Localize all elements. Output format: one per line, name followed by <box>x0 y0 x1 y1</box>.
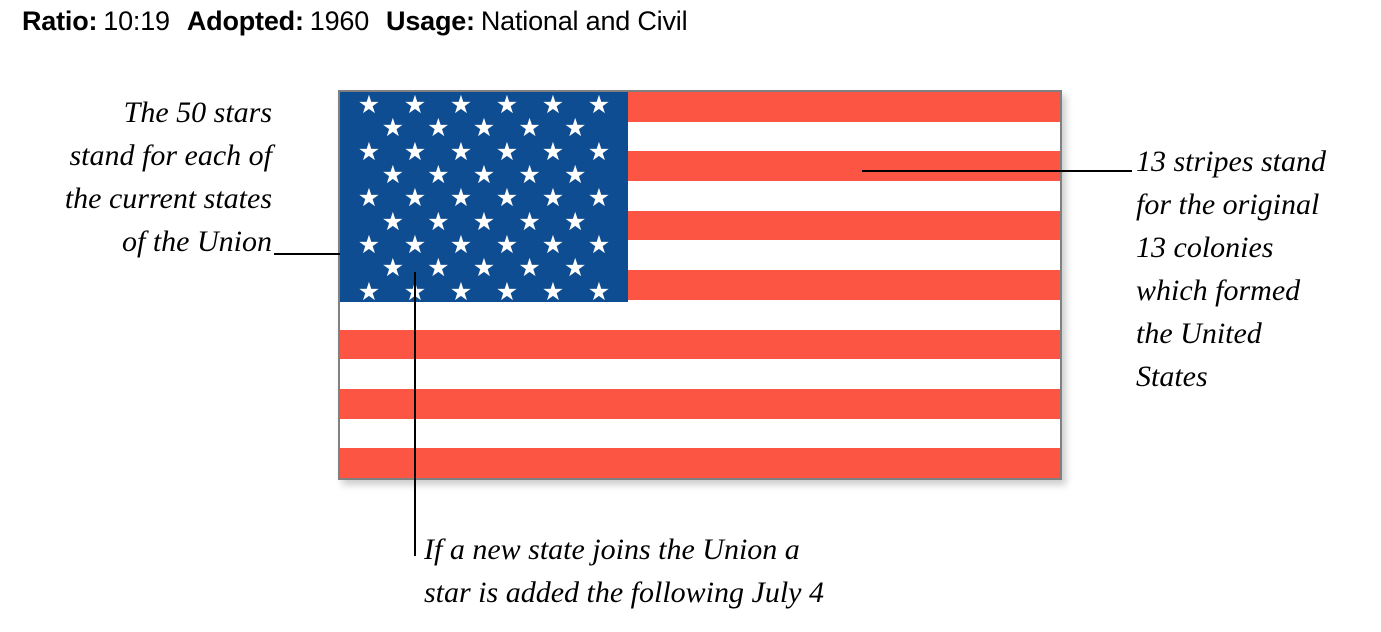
star-icon: ★ <box>357 140 381 163</box>
annotation-line: 13 stripes stand <box>1136 140 1376 183</box>
leader-line-stars <box>274 253 340 255</box>
star-icon: ★ <box>357 280 381 302</box>
flag-stripe-8-white <box>340 300 1060 330</box>
annotation-line: If a new state joins the Union a <box>424 528 944 571</box>
star-icon: ★ <box>541 186 565 209</box>
leader-line-stripes <box>862 170 1132 172</box>
annotation-line: the current states <box>10 177 272 220</box>
star-icon: ★ <box>449 280 473 302</box>
flag-stripe-10-white <box>340 359 1060 389</box>
annotation-new-state: If a new state joins the Union astar is … <box>424 528 944 614</box>
star-icon: ★ <box>403 140 427 163</box>
star-icon: ★ <box>449 233 473 256</box>
star-icon: ★ <box>381 256 405 279</box>
star-row-8: ★★★★★ <box>340 256 628 277</box>
flag-stripe-11-red <box>340 389 1060 419</box>
star-icon: ★ <box>449 93 473 116</box>
adopted-value: 1960 <box>310 6 369 36</box>
annotation-stripes: 13 stripes standfor the original13 colon… <box>1136 140 1376 398</box>
star-icon: ★ <box>472 163 496 186</box>
annotation-line: The 50 stars <box>10 91 272 134</box>
star-row-5: ★★★★★★ <box>340 186 628 207</box>
star-row-2: ★★★★★ <box>340 116 628 137</box>
star-row-4: ★★★★★ <box>340 163 628 184</box>
star-icon: ★ <box>426 163 450 186</box>
star-icon: ★ <box>563 163 587 186</box>
flag-stripe-13-red <box>340 448 1060 478</box>
star-icon: ★ <box>472 210 496 233</box>
annotation-stars: The 50 starsstand for each ofthe current… <box>10 91 272 263</box>
annotation-line: of the Union <box>10 220 272 263</box>
star-icon: ★ <box>403 93 427 116</box>
flag-stripe-9-red <box>340 330 1060 360</box>
star-icon: ★ <box>541 140 565 163</box>
usage-value: National and Civil <box>481 6 688 36</box>
star-icon: ★ <box>563 116 587 139</box>
ratio-label: Ratio: <box>22 6 97 36</box>
star-icon: ★ <box>449 186 473 209</box>
star-icon: ★ <box>381 116 405 139</box>
star-icon: ★ <box>587 140 611 163</box>
star-icon: ★ <box>403 186 427 209</box>
star-icon: ★ <box>495 233 519 256</box>
star-icon: ★ <box>495 280 519 302</box>
star-icon: ★ <box>426 256 450 279</box>
leader-line-new-state <box>414 272 416 556</box>
star-row-6: ★★★★★ <box>340 210 628 231</box>
annotation-line: 13 colonies <box>1136 226 1376 269</box>
annotation-line: for the original <box>1136 183 1376 226</box>
us-flag-illustration: ★★★★★★★★★★★★★★★★★★★★★★★★★★★★★★★★★★★★★★★★… <box>338 90 1062 480</box>
star-icon: ★ <box>518 256 542 279</box>
star-icon: ★ <box>495 93 519 116</box>
ratio-value: 10:19 <box>103 6 170 36</box>
star-icon: ★ <box>541 280 565 302</box>
star-row-9: ★★★★★★ <box>340 280 628 301</box>
star-row-7: ★★★★★★ <box>340 233 628 254</box>
star-icon: ★ <box>426 210 450 233</box>
star-row-3: ★★★★★★ <box>340 140 628 161</box>
adopted-label: Adopted: <box>187 6 304 36</box>
star-icon: ★ <box>518 116 542 139</box>
flag-canton-star-field: ★★★★★★★★★★★★★★★★★★★★★★★★★★★★★★★★★★★★★★★★… <box>340 92 628 302</box>
star-icon: ★ <box>518 163 542 186</box>
star-icon: ★ <box>563 210 587 233</box>
flag-stripe-12-white <box>340 419 1060 449</box>
annotation-line: star is added the following July 4 <box>424 571 944 614</box>
annotation-line: which formed <box>1136 269 1376 312</box>
star-icon: ★ <box>403 233 427 256</box>
star-icon: ★ <box>357 93 381 116</box>
usage-label: Usage: <box>386 6 475 36</box>
star-icon: ★ <box>541 233 565 256</box>
star-icon: ★ <box>426 116 450 139</box>
star-icon: ★ <box>541 93 565 116</box>
star-icon: ★ <box>357 233 381 256</box>
star-icon: ★ <box>381 163 405 186</box>
annotation-line: the United <box>1136 312 1376 355</box>
star-icon: ★ <box>587 186 611 209</box>
annotation-line: stand for each of <box>10 134 272 177</box>
star-icon: ★ <box>357 186 381 209</box>
star-icon: ★ <box>472 116 496 139</box>
star-icon: ★ <box>472 256 496 279</box>
annotation-line: States <box>1136 355 1376 398</box>
star-icon: ★ <box>495 140 519 163</box>
star-icon: ★ <box>587 233 611 256</box>
star-icon: ★ <box>518 210 542 233</box>
star-icon: ★ <box>449 140 473 163</box>
star-icon: ★ <box>587 93 611 116</box>
star-icon: ★ <box>381 210 405 233</box>
star-icon: ★ <box>587 280 611 302</box>
star-row-1: ★★★★★★ <box>340 93 628 114</box>
star-icon: ★ <box>563 256 587 279</box>
flag-facts-header: Ratio:10:19Adopted:1960Usage:National an… <box>22 4 687 38</box>
star-icon: ★ <box>495 186 519 209</box>
